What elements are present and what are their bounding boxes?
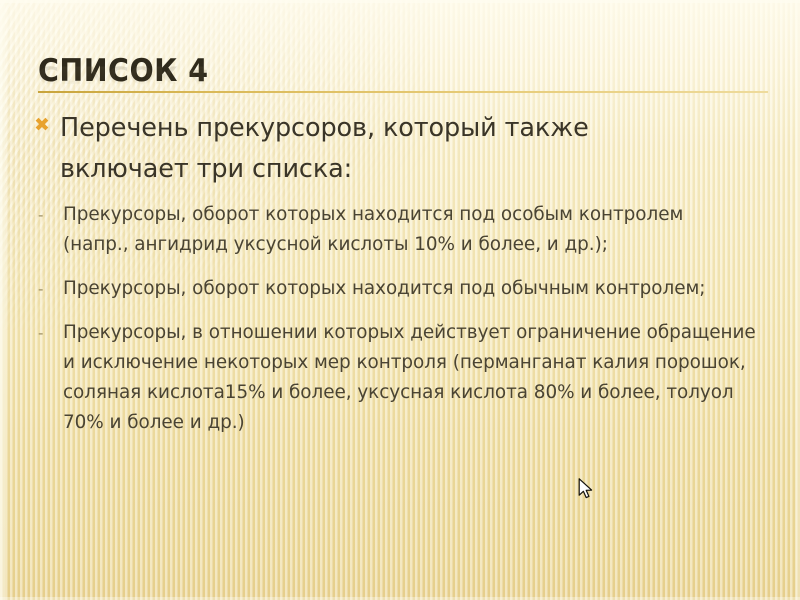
slide-border-right [796, 0, 800, 600]
dash-icon: - [38, 318, 56, 348]
bullet-level2-item-1: - Прекурсоры, оборот которых находится п… [34, 200, 774, 260]
bullet-level2-item-2: - Прекурсоры, оборот которых находится п… [34, 274, 774, 304]
slide-border-top [0, 0, 800, 3]
mouse-pointer-icon [578, 478, 594, 500]
bullet-level2-text-2: Прекурсоры, оборот которых находится под… [63, 274, 705, 304]
bullet-level1-text: Перечень прекурсоров, который также вклю… [60, 108, 660, 190]
dash-icon: - [38, 274, 56, 304]
page-title: Список 4 [38, 52, 700, 90]
presentation-slide: Список 4 Список 4 ✖ Перечень прекурсоров… [0, 0, 800, 600]
slide-border-left [0, 0, 5, 600]
bullet-level2-item-3: - Прекурсоры, в отношении которых действ… [34, 318, 774, 438]
bullet-level1: ✖ Перечень прекурсоров, который также вк… [34, 108, 774, 190]
title-block: Список 4 Список 4 [38, 52, 758, 108]
x-mark-icon: ✖ [34, 108, 54, 142]
dash-icon: - [38, 200, 56, 230]
slide-body: ✖ Перечень прекурсоров, который также вк… [34, 108, 774, 452]
bullet-level2-text-1: Прекурсоры, оборот которых находится под… [63, 200, 753, 260]
bullet-level2-text-3: Прекурсоры, в отношении которых действуе… [63, 318, 763, 438]
title-underline-rule [38, 91, 768, 93]
